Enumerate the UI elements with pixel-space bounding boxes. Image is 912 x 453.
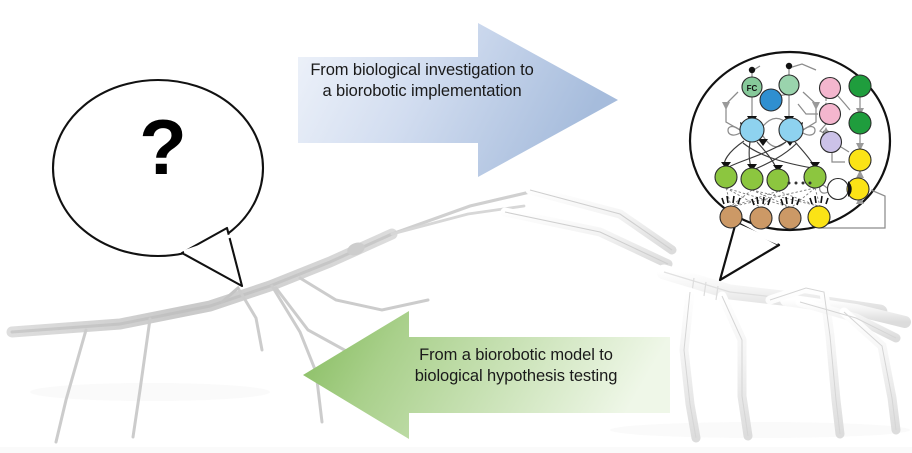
neural-network-thought-bubble: FC bbox=[0, 0, 912, 453]
fc-node-label: FC bbox=[747, 84, 758, 93]
node-olive-4 bbox=[804, 166, 826, 188]
node-pink-top bbox=[820, 78, 841, 99]
node-brown-2 bbox=[750, 207, 772, 229]
node-lavender bbox=[821, 132, 842, 153]
node-olive-2 bbox=[741, 168, 763, 190]
node-olive-1 bbox=[715, 166, 737, 188]
node-blue-right bbox=[779, 118, 803, 142]
node-brown-1 bbox=[720, 206, 742, 228]
node-blue-dark bbox=[760, 89, 782, 111]
node-green-mid bbox=[849, 112, 871, 134]
node-yellow-output bbox=[808, 206, 830, 228]
node-pink-bottom bbox=[820, 104, 841, 125]
node-brown-3 bbox=[779, 207, 801, 229]
node-yellow-upper bbox=[849, 149, 871, 171]
node-olive-3 bbox=[767, 169, 789, 191]
node-green-top bbox=[849, 75, 871, 97]
figure-canvas: ? bbox=[0, 0, 912, 453]
bottom-edge-strip bbox=[0, 447, 912, 453]
node-light-green bbox=[779, 75, 799, 95]
node-white-pair bbox=[828, 179, 849, 200]
node-blue-left bbox=[740, 118, 764, 142]
